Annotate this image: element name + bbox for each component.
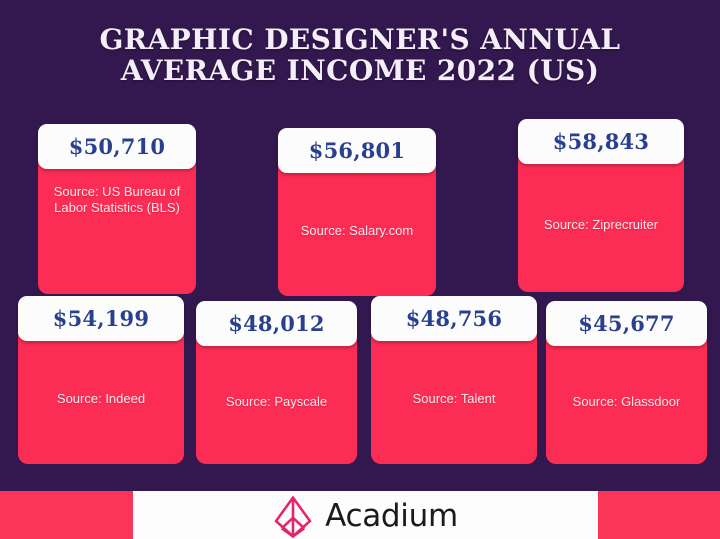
- card-amount-value: $50,710: [69, 134, 165, 159]
- card-source-label: Source: Salary.com: [301, 223, 413, 239]
- title-line-1: GRAPHIC DESIGNER'S ANNUAL: [0, 24, 720, 55]
- card-source-label: Source: Ziprecruiter: [544, 217, 658, 233]
- infographic-canvas: GRAPHIC DESIGNER'S ANNUAL AVERAGE INCOME…: [0, 0, 720, 539]
- title-line-2: AVERAGE INCOME 2022 (US): [0, 55, 720, 86]
- card-source-label: Source: Glassdoor: [573, 394, 681, 410]
- card-header: $48,756: [371, 296, 537, 341]
- card-source-label: Source: Indeed: [57, 391, 145, 407]
- card-source-label: Source: US Bureau of Labor Statistics (B…: [46, 184, 188, 216]
- acadium-diamond-logo-icon: [273, 496, 313, 538]
- card-amount-value: $48,756: [406, 306, 502, 331]
- card-amount-value: $45,677: [578, 311, 674, 336]
- card-header: $48,012: [196, 301, 357, 346]
- footer-brand-panel: Acadium: [133, 491, 598, 539]
- card-header: $54,199: [18, 296, 184, 341]
- card-source-label: Source: Payscale: [226, 394, 327, 410]
- card-amount-value: $48,012: [228, 311, 324, 336]
- card-header: $50,710: [38, 124, 196, 169]
- card-amount-value: $56,801: [309, 138, 405, 163]
- footer-bar: Acadium: [0, 491, 720, 539]
- card-header: $58,843: [518, 119, 684, 164]
- page-title: GRAPHIC DESIGNER'S ANNUAL AVERAGE INCOME…: [0, 24, 720, 87]
- card-source-label: Source: Talent: [413, 391, 496, 407]
- card-amount-value: $58,843: [553, 129, 649, 154]
- card-header: $56,801: [278, 128, 436, 173]
- card-amount-value: $54,199: [53, 306, 149, 331]
- brand-wordmark: Acadium: [325, 501, 458, 532]
- card-header: $45,677: [546, 301, 707, 346]
